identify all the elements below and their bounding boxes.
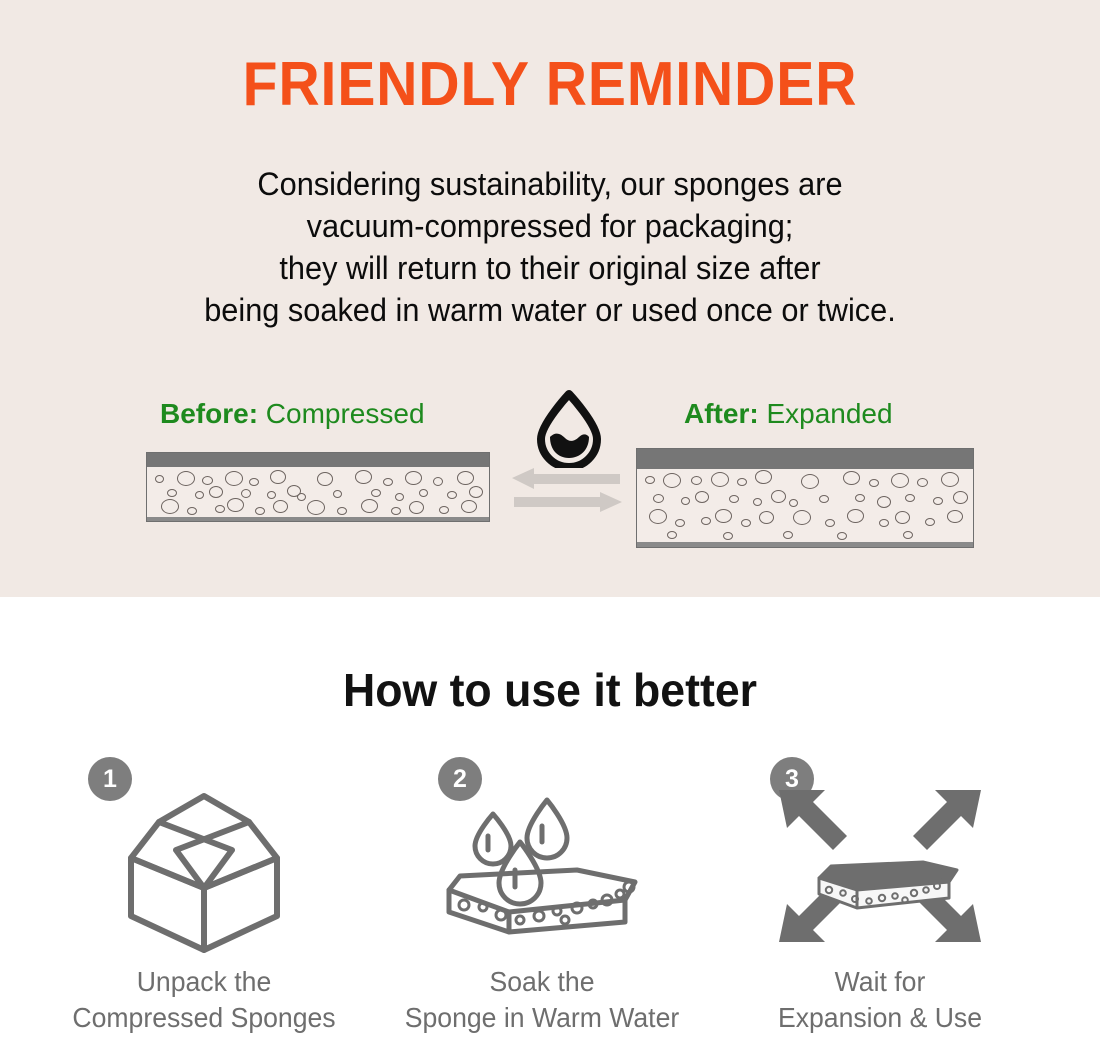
sponge-pore: [649, 509, 667, 524]
before-label: Before: Compressed: [160, 398, 425, 430]
sponge-pore: [879, 519, 889, 527]
sponge-pore: [895, 511, 910, 524]
sponge-pore: [177, 471, 195, 486]
sponge-pore: [801, 474, 819, 489]
sponge-pore: [371, 489, 381, 497]
step-caption-line-2: Compressed Sponges: [33, 1000, 375, 1036]
sponge-pore: [789, 499, 798, 507]
sponge-pore: [227, 498, 244, 512]
sponge-pore: [202, 476, 213, 485]
sponge-base-shadow: [147, 517, 489, 521]
sponge-scrub-layer: [147, 453, 489, 467]
sponge-pore: [675, 519, 685, 527]
sponge-pore: [225, 471, 243, 486]
sponge-pore: [419, 489, 428, 497]
sponge-pore: [187, 507, 197, 515]
sponge-pore: [941, 472, 959, 487]
sponge-pore: [161, 499, 179, 514]
sponge-pore: [847, 509, 864, 523]
sponge-pore: [737, 478, 747, 486]
sponge-pore: [723, 532, 733, 540]
transition-graphic: [512, 390, 624, 520]
sponge-pore: [953, 491, 968, 504]
sponge-pore: [273, 500, 288, 513]
sponge-pore: [395, 493, 404, 501]
sponge-pore: [439, 506, 449, 514]
sponge-pore: [947, 510, 963, 523]
sponge-pore: [741, 519, 751, 527]
howto-step: 1 Unpack the Compressed Sponges: [24, 752, 384, 1042]
sponge-pore: [783, 531, 793, 539]
sponge-pore: [307, 500, 325, 515]
sponge-pore: [461, 500, 477, 513]
sponge-pore: [925, 518, 935, 526]
sponge-pore: [317, 472, 333, 486]
sponge-pore: [759, 511, 774, 524]
sponge-pore: [825, 519, 835, 527]
sponge-pore: [405, 471, 422, 485]
step-caption-line-2: Sponge in Warm Water: [371, 1000, 713, 1036]
sponge-pore: [457, 471, 474, 485]
step-caption: Soak the Sponge in Warm Water: [371, 964, 713, 1036]
open-box-icon: [24, 770, 384, 960]
sponge-pore: [917, 478, 928, 487]
sponge-pore: [755, 470, 772, 484]
sponge-pore: [469, 486, 483, 498]
step-caption-line-2: Expansion & Use: [709, 1000, 1051, 1036]
sponge-pore: [869, 479, 879, 487]
water-drop-icon: [534, 390, 604, 473]
expanding-arrows-sponge-icon: [700, 770, 1060, 960]
step-caption-line-1: Soak the: [371, 964, 713, 1000]
sponge-pore: [695, 491, 709, 503]
sponge-pore: [447, 491, 457, 499]
sponge-pore: [905, 494, 915, 502]
page-title: FRIENDLY REMINDER: [44, 54, 1056, 116]
howto-title: How to use it better: [17, 663, 1084, 717]
reminder-body-line-4: being soaked in warm water or used once …: [22, 289, 1078, 331]
sponge-pore: [337, 507, 347, 515]
compressed-sponge-illustration: [146, 452, 490, 522]
sponge-pore: [270, 470, 286, 484]
two-way-arrows-icon: [512, 468, 622, 523]
before-label-key: Before:: [160, 398, 258, 429]
sponge-pore: [383, 478, 393, 486]
after-label-key: After:: [684, 398, 759, 429]
sponge-pore: [215, 505, 225, 513]
sponge-pore: [933, 497, 943, 505]
sponge-pore: [691, 476, 702, 485]
sponge-pore: [843, 471, 860, 485]
before-label-value: Compressed: [266, 398, 425, 429]
step-caption-line-1: Wait for: [709, 964, 1051, 1000]
sponge-pore: [249, 478, 259, 486]
after-label: After: Expanded: [684, 398, 893, 430]
expanded-sponge-illustration: [636, 448, 974, 548]
reminder-body-line-1: Considering sustainability, our sponges …: [22, 163, 1078, 205]
sponge-base-shadow: [637, 542, 973, 547]
sponge-pore: [297, 493, 306, 501]
sponge-pore: [209, 486, 223, 498]
howto-step: 2: [362, 752, 722, 1042]
step-caption: Unpack the Compressed Sponges: [33, 964, 375, 1036]
step-caption: Wait for Expansion & Use: [709, 964, 1051, 1036]
sponge-pore: [681, 497, 690, 505]
step-caption-line-1: Unpack the: [33, 964, 375, 1000]
reminder-panel: FRIENDLY REMINDER Considering sustainabi…: [0, 0, 1100, 597]
reminder-body-line-3: they will return to their original size …: [22, 247, 1078, 289]
sponge-pore: [355, 470, 372, 484]
sponge-pore: [715, 509, 732, 523]
howto-panel: How to use it better 1 Unpack the Compre…: [0, 597, 1100, 1039]
sponge-pore: [267, 491, 276, 499]
sponge-pore: [903, 531, 913, 539]
sponge-pore: [241, 489, 251, 498]
sponge-pore: [855, 494, 865, 502]
water-drops-on-sponge-icon: [362, 770, 722, 960]
sponge-pore: [819, 495, 829, 503]
sponge-scrub-layer: [637, 449, 973, 469]
sponge-pore: [701, 517, 711, 525]
sponge-pore: [361, 499, 378, 513]
sponge-pore: [793, 510, 811, 525]
sponge-pore: [167, 489, 177, 497]
sponge-pore: [667, 531, 677, 539]
sponge-pore: [195, 491, 204, 499]
after-label-value: Expanded: [766, 398, 892, 429]
reminder-body-line-2: vacuum-compressed for packaging;: [22, 205, 1078, 247]
sponge-pore: [877, 496, 891, 508]
howto-step: 3: [700, 752, 1060, 1042]
sponge-pore: [653, 494, 664, 503]
sponge-pore: [433, 477, 443, 486]
sponge-pore: [891, 473, 909, 488]
sponge-pore: [663, 473, 681, 488]
sponge-pore: [255, 507, 265, 515]
reminder-body-text: Considering sustainability, our sponges …: [22, 163, 1078, 331]
sponge-pore: [155, 475, 164, 483]
sponge-pore: [729, 495, 739, 503]
sponge-pore: [391, 507, 401, 515]
sponge-pore: [645, 476, 655, 484]
sponge-pore: [711, 472, 729, 487]
sponge-pore: [409, 501, 424, 514]
sponge-pore: [837, 532, 847, 540]
sponge-pore: [771, 490, 786, 503]
sponge-pore: [753, 498, 762, 506]
sponge-pore: [333, 490, 342, 498]
